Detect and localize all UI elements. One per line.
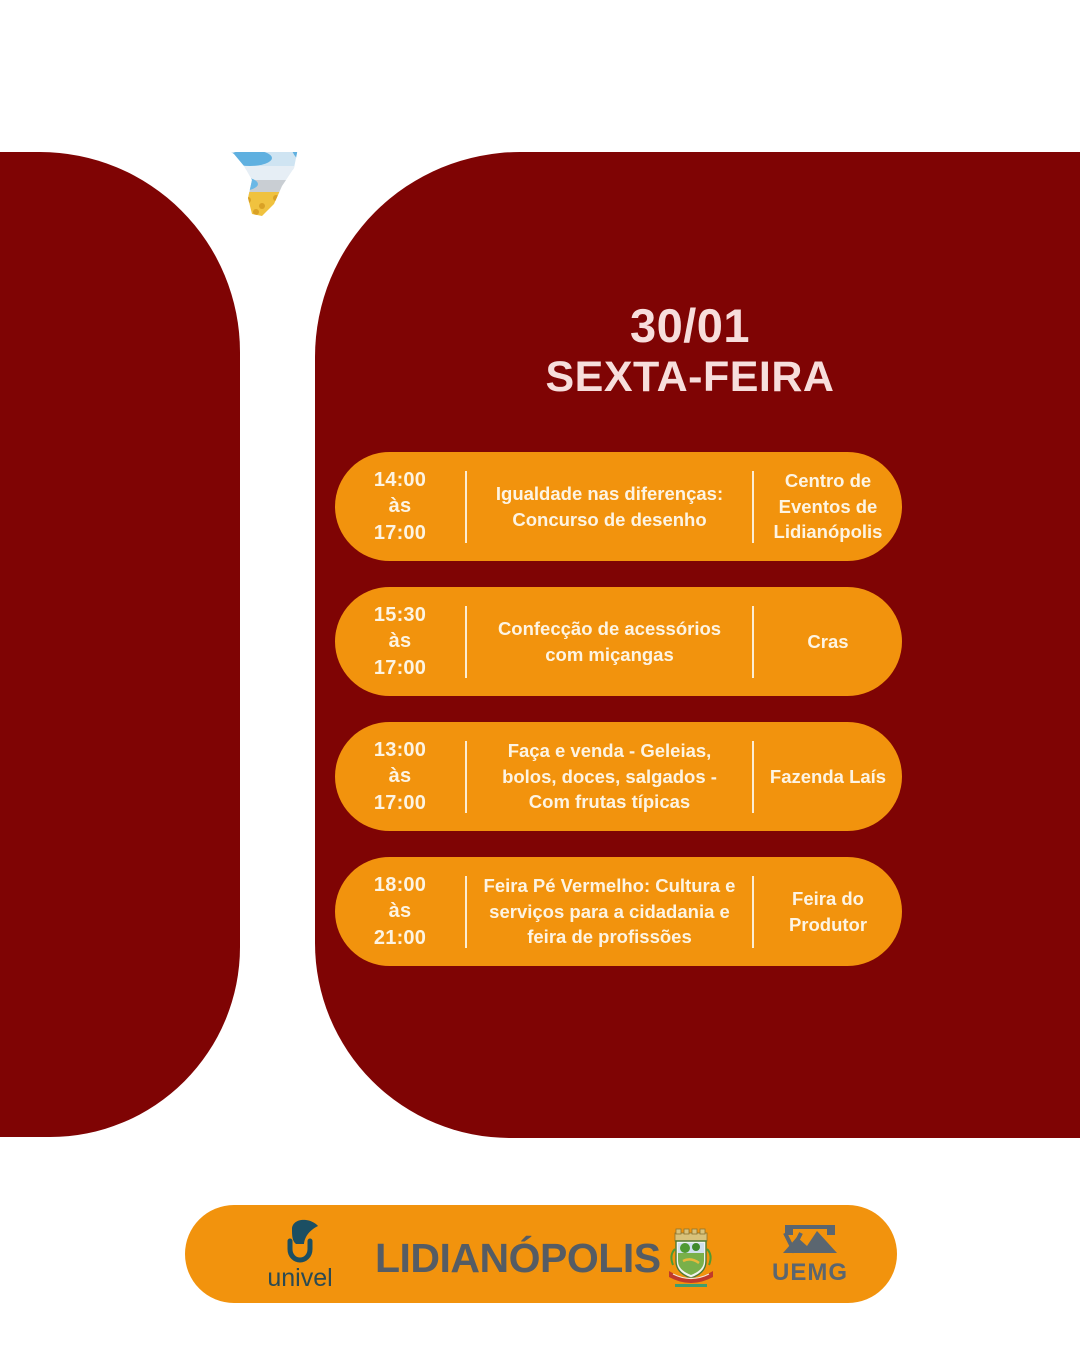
card-divider-right	[752, 606, 754, 678]
schedule-activity: Faça e venda - Geleias, bolos, doces, sa…	[467, 738, 752, 815]
lidianopolis-coat-of-arms-icon	[665, 1227, 717, 1289]
day-weekday: SEXTA-FEIRA	[380, 353, 1000, 401]
schedule-activity: Confecção de acessórios com miçangas	[467, 616, 752, 667]
card-divider-left	[465, 741, 467, 813]
schedule-activity: Igualdade nas diferenças: Concurso de de…	[467, 481, 752, 532]
schedule-time-separator: às	[335, 493, 465, 519]
uemg-logo[interactable]: UEMG	[760, 1219, 860, 1293]
uemg-mountain-logo-icon	[779, 1219, 841, 1263]
univel-label: univel	[267, 1266, 332, 1291]
schedule-time-separator: às	[335, 898, 465, 924]
schedule-time-start: 13:00	[335, 737, 465, 763]
schedule-time-start: 15:30	[335, 602, 465, 628]
schedule-time: 18:00 às 21:00	[335, 872, 465, 951]
card-divider-left	[465, 606, 467, 678]
univel-leaf-logo-icon	[278, 1217, 322, 1263]
schedule-card[interactable]: 15:30 às 17:00 Confecção de acessórios c…	[335, 587, 902, 696]
schedule-time-separator: às	[335, 628, 465, 654]
day-title: 30/01 SEXTA-FEIRA	[380, 300, 1000, 401]
schedule-place: Fazenda Laís	[754, 764, 902, 790]
schedule-time-separator: às	[335, 763, 465, 789]
schedule-activity: Feira Pé Vermelho: Cultura e serviços pa…	[467, 873, 752, 950]
card-divider-right	[752, 876, 754, 948]
schedule-card[interactable]: 14:00 às 17:00 Igualdade nas diferenças:…	[335, 452, 902, 561]
uemg-label: UEMG	[772, 1261, 848, 1285]
schedule-time-end: 21:00	[335, 925, 465, 951]
schedule-time-end: 17:00	[335, 520, 465, 546]
lidianopolis-label: LIDIANÓPOLIS	[375, 1238, 661, 1279]
schedule-time-end: 17:00	[335, 790, 465, 816]
schedule-card[interactable]: 13:00 às 17:00 Faça e venda - Geleias, b…	[335, 722, 902, 831]
schedule-time: 15:30 às 17:00	[335, 602, 465, 681]
card-divider-right	[752, 741, 754, 813]
schedule-time-start: 14:00	[335, 467, 465, 493]
day-date: 30/01	[380, 300, 1000, 353]
schedule-time-start: 18:00	[335, 872, 465, 898]
card-divider-right	[752, 471, 754, 543]
schedule-time: 13:00 às 17:00	[335, 737, 465, 816]
schedule-place: Cras	[754, 629, 902, 655]
schedule-list: 14:00 às 17:00 Igualdade nas diferenças:…	[335, 452, 902, 992]
schedule-place: Centro de Eventos de Lidianópolis	[754, 468, 902, 545]
card-divider-left	[465, 471, 467, 543]
header-bar	[0, 0, 1080, 152]
schedule-time: 14:00 às 17:00	[335, 467, 465, 546]
schedule-place: Feira do Produtor	[754, 886, 902, 937]
univel-logo[interactable]: univel	[245, 1217, 355, 1293]
schedule-card[interactable]: 18:00 às 21:00 Feira Pé Vermelho: Cultur…	[335, 857, 902, 966]
card-divider-left	[465, 876, 467, 948]
background-arch-left	[0, 152, 240, 1137]
schedule-time-end: 17:00	[335, 655, 465, 681]
lidianopolis-logo[interactable]: LIDIANÓPOLIS	[375, 1227, 717, 1289]
footer-sponsor-bar: univel LIDIANÓPOLIS	[185, 1205, 897, 1303]
